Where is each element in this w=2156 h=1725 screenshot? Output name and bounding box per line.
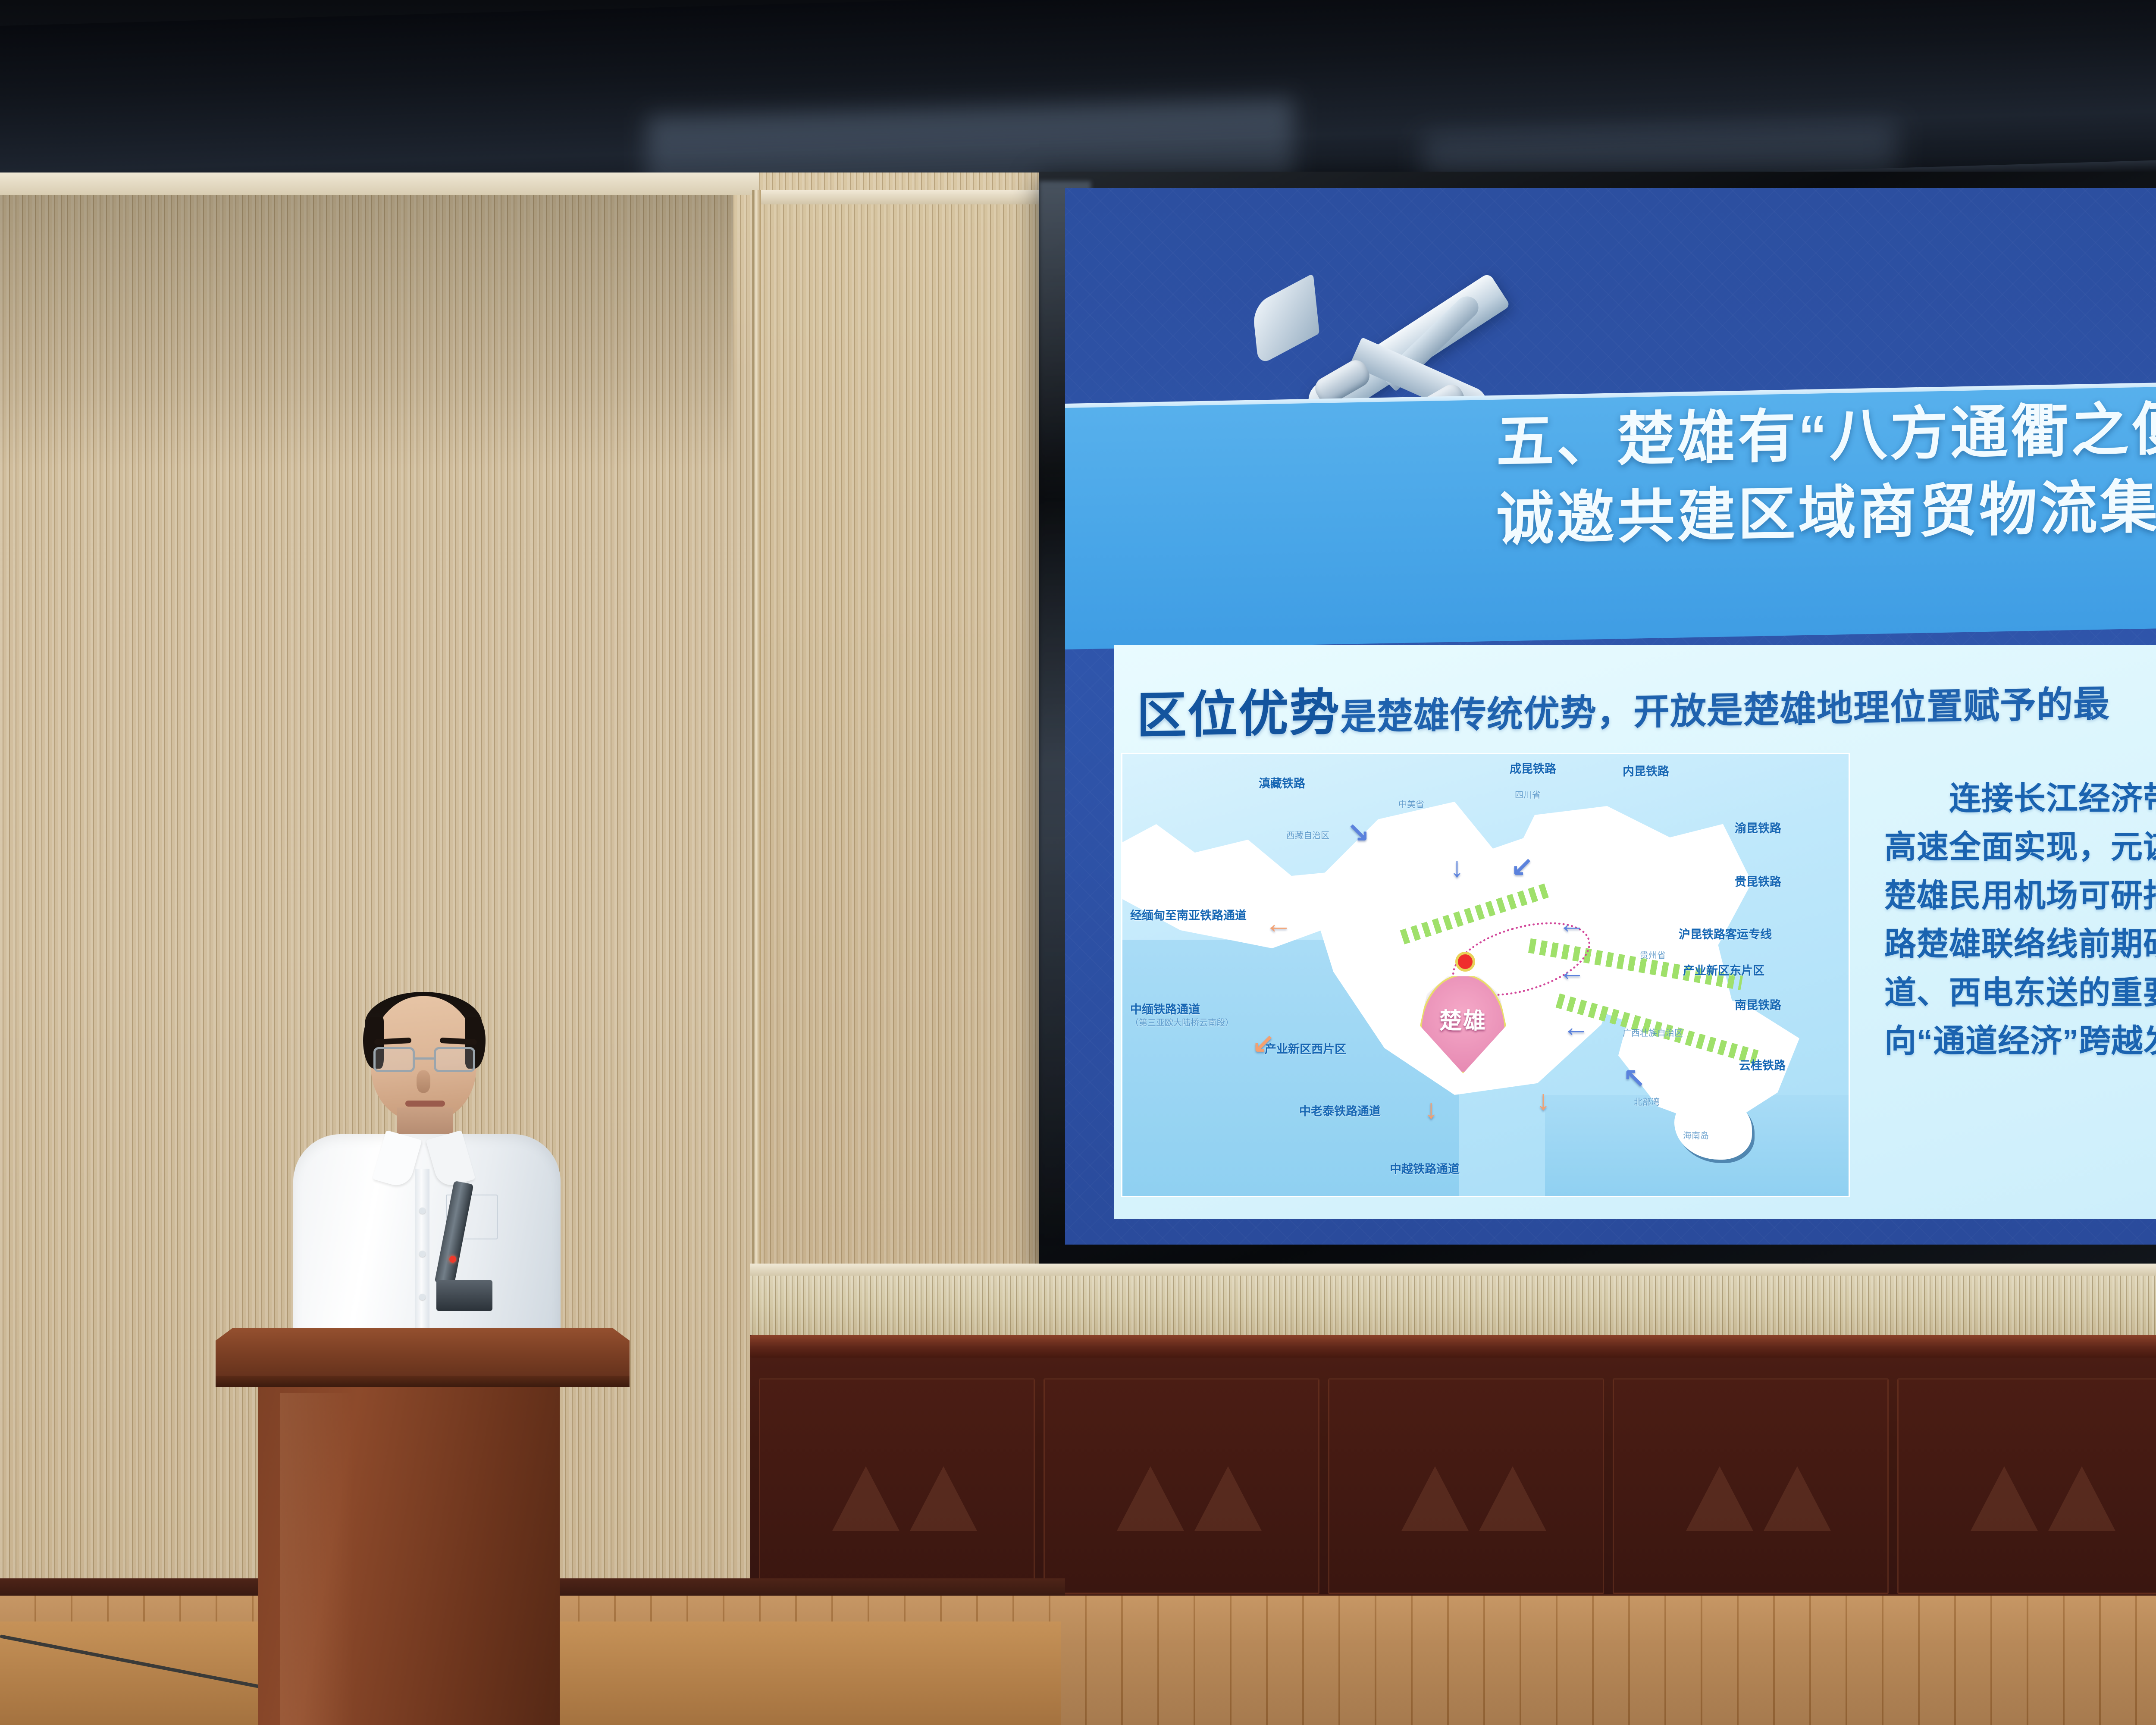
- map-label-china-myanmar-corridor-sub: （第三亚欧大陆桥云南段）: [1130, 1016, 1234, 1028]
- presentation-hall-scene: 五、楚雄有“八方通衢之便”的 诚邀共建区域商贸物流集散中心 区位优势是楚雄传统优…: [0, 0, 2156, 1725]
- mahogany-top-rail: [750, 1335, 2156, 1358]
- panel-chevron-inlay: [1764, 1466, 1831, 1531]
- wall-panel-cap-molding: [761, 190, 1048, 204]
- panel-chevron-inlay: [2048, 1466, 2115, 1531]
- mouth: [405, 1101, 445, 1107]
- slide-title: 五、楚雄有“八方通衢之便”的 诚邀共建区域商贸物流集散中心: [1496, 381, 2156, 558]
- panel-chevron-inlay: [1686, 1466, 1753, 1531]
- map-label-nankun-railway: 南昆铁路: [1735, 996, 1781, 1013]
- lower-wall-cap-molding: [750, 1264, 2156, 1276]
- panel-chevron-inlay: [1401, 1466, 1469, 1531]
- map-label-zhongmei-province: 中美省: [1398, 797, 1424, 810]
- subtitle-remainder: 是楚雄传统优势，开放是楚雄地理位置赋予的最: [1340, 684, 2110, 737]
- podium-top-edge: [216, 1376, 630, 1387]
- wall-top-cap-molding: [0, 172, 759, 195]
- map-label-guangxi-region: 广西壮族自治区: [1623, 1026, 1683, 1038]
- map-label-china-myanmar-corridor: 中缅铁路通道: [1130, 1000, 1200, 1017]
- map-label-diancang-railway: 滇藏铁路: [1259, 774, 1305, 791]
- map-label-industrial-east-zone: 产业新区东片区: [1683, 961, 1764, 978]
- panel-chevron-inlay: [910, 1466, 977, 1531]
- speaker-person: [263, 992, 591, 1337]
- map-label-yungui-railway: 云桂铁路: [1739, 1056, 1786, 1073]
- map-label-chengkun-railway: 成昆铁路: [1510, 759, 1556, 776]
- chuxiong-marker-label: 楚雄: [1439, 1003, 1487, 1035]
- yunnan-railway-corridor-map: 楚雄 ↘ ↓ ↙ ← ← ← ↖ ← ↙ ↓ ↓ 滇藏铁路 成昆铁路 内昆铁路 …: [1121, 753, 1850, 1197]
- body-line: 道、西电东送的重要枢纽及通道，全州正加: [1884, 969, 2156, 1017]
- podium-highlight: [280, 1393, 354, 1725]
- microphone-status-led: [449, 1256, 456, 1263]
- panel-chevron-inlay: [1971, 1466, 2038, 1531]
- map-label-guizhou-province: 贵州省: [1640, 948, 1666, 961]
- panel-chevron-inlay: [832, 1466, 899, 1531]
- slide-body-text: 连接长江经济带与孟中印缅经济走廊 高速全面实现，元谋县成功创建“四好农村 楚雄民…: [1884, 775, 2156, 1066]
- panel-chevron-inlay: [1117, 1466, 1184, 1531]
- eyeglasses-icon: [373, 1047, 475, 1074]
- map-label-china-vietnam-corridor: 中越铁路通道: [1390, 1160, 1460, 1176]
- map-label-guikun-railway: 贵昆铁路: [1735, 872, 1781, 889]
- map-label-hukun-passenger-line: 沪昆铁路客运专线: [1679, 925, 1772, 942]
- map-label-beibu-gulf: 北部湾: [1634, 1095, 1660, 1107]
- microphone-base: [436, 1280, 492, 1311]
- map-label-tibet-region: 西藏自治区: [1286, 828, 1329, 841]
- podium: [216, 1328, 630, 1725]
- subtitle-emphasis: 区位优势: [1137, 684, 1340, 744]
- map-label-sichuan-province: 四川省: [1515, 788, 1541, 800]
- map-label-myanmar-south-asia-corridor: 经缅甸至南亚铁路通道: [1130, 906, 1247, 923]
- map-label-industrial-west-zone: 产业新区西片区: [1265, 1040, 1346, 1057]
- body-line: 连接长江经济带与孟中印缅经济走廊: [1884, 775, 2156, 823]
- body-line: 向“通道经济”跨越发展。: [1884, 1017, 2156, 1065]
- microphone[interactable]: [436, 1182, 467, 1307]
- body-line: 路楚雄联络线前期研究有序推进，是全国西: [1884, 920, 2156, 968]
- body-line: 楚雄民用机场可研报告获国家民航局审批，: [1884, 872, 2156, 920]
- map-label-yukun-railway: 渝昆铁路: [1735, 819, 1781, 836]
- panel-chevron-inlay: [1194, 1466, 1262, 1531]
- nose: [417, 1070, 430, 1093]
- capital-dot-icon: [1455, 952, 1475, 972]
- map-label-hainan-island: 海南岛: [1683, 1129, 1709, 1141]
- map-label-neikun-railway: 内昆铁路: [1623, 762, 1669, 779]
- map-label-china-laos-thailand-corridor: 中老泰铁路通道: [1299, 1102, 1381, 1119]
- presentation-slide[interactable]: 五、楚雄有“八方通衢之便”的 诚邀共建区域商贸物流集散中心 区位优势是楚雄传统优…: [1065, 188, 2156, 1245]
- body-line: 高速全面实现，元谋县成功创建“四好农村: [1884, 823, 2156, 871]
- wall-shadow: [0, 172, 733, 474]
- panel-chevron-inlay: [1479, 1466, 1546, 1531]
